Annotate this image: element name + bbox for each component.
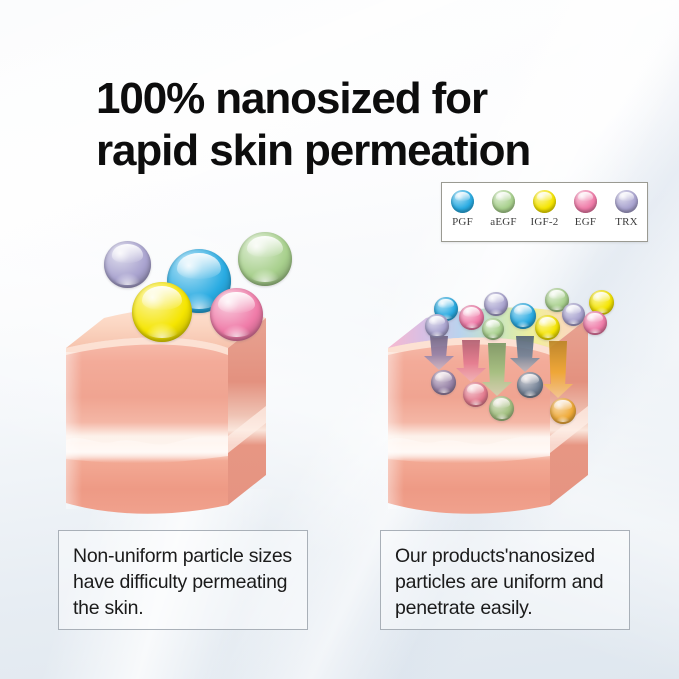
swatch-highlight: [537, 192, 552, 201]
legend-label: PGF: [444, 216, 482, 228]
legend-item-aegf: aEGF: [485, 190, 523, 228]
legend-swatch-pgf-icon: [451, 190, 474, 213]
skin-cross-section-front: [66, 338, 228, 514]
legend-label: EGF: [567, 216, 605, 228]
legend-swatch-igf-2-icon: [533, 190, 556, 213]
legend-item-igf-2: IGF-2: [526, 190, 564, 228]
panel-nanosized: [388, 300, 588, 515]
headline-line-2: rapid skin permeation: [96, 125, 656, 176]
swatch-highlight: [578, 192, 593, 201]
skin-cross-section-front: [388, 338, 550, 514]
legend-swatch-egf-icon: [574, 190, 597, 213]
swatch-highlight: [455, 192, 470, 201]
caption-non-uniform: Non-uniform particle sizes have difficul…: [58, 530, 308, 630]
legend-label: TRX: [608, 216, 646, 228]
legend-item-egf: EGF: [567, 190, 605, 228]
legend-item-pgf: PGF: [444, 190, 482, 228]
swatch-highlight: [619, 192, 634, 201]
legend-label: IGF-2: [526, 216, 564, 228]
skin-block-illustration: [66, 300, 266, 515]
swatch-highlight: [496, 192, 511, 201]
caption-nanosized: Our products'nanosized particles are uni…: [380, 530, 630, 630]
legend-swatch-trx-icon: [615, 190, 638, 213]
block-edge-highlight: [388, 352, 404, 509]
block-edge-highlight: [66, 352, 82, 509]
legend-item-trx: TRX: [608, 190, 646, 228]
legend-swatch-aegf-icon: [492, 190, 515, 213]
legend-label: aEGF: [485, 216, 523, 228]
page-title: 100% nanosized for rapid skin permeation: [96, 73, 656, 175]
growth-factor-legend: PGFaEGFIGF-2EGFTRX: [441, 182, 648, 242]
panel-non-uniform: [66, 300, 266, 515]
skin-block-illustration: [388, 300, 588, 515]
headline-line-1: 100% nanosized for: [96, 74, 487, 123]
